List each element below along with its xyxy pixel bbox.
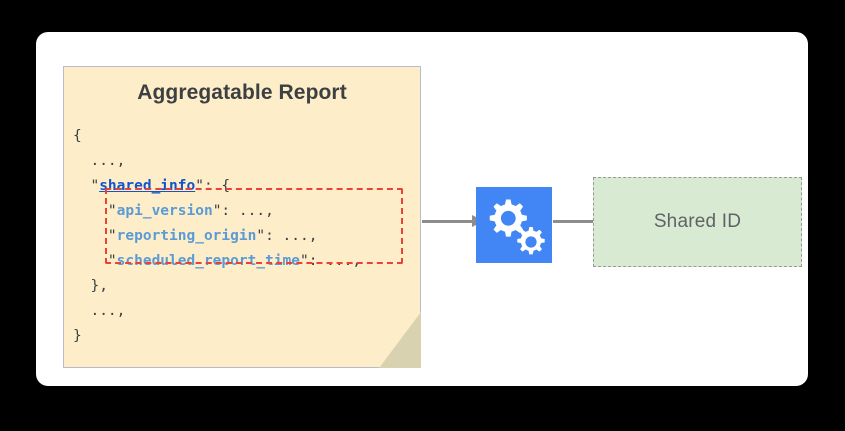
code-line: "reporting_origin": ..., xyxy=(73,224,361,249)
code-line: ..., xyxy=(73,299,361,324)
json-key: reporting_origin xyxy=(117,228,257,244)
code-token: } xyxy=(73,328,82,344)
json-key: api_version xyxy=(117,203,213,219)
code-token: ..., xyxy=(90,153,125,169)
code-line: }, xyxy=(73,274,361,299)
code-line: "scheduled_report_time": ..., xyxy=(73,249,361,274)
code-line: { xyxy=(73,124,361,149)
json-code-block: { ..., "shared_info": { "api_version": .… xyxy=(73,124,361,349)
code-indent xyxy=(73,153,90,169)
arrow-shaft xyxy=(553,220,593,223)
code-indent xyxy=(73,178,90,194)
code-token: " xyxy=(108,203,117,219)
code-token: ": ..., xyxy=(256,228,317,244)
code-token: " xyxy=(90,178,99,194)
diagram-canvas: Aggregatable Report { ..., "shared_info"… xyxy=(0,0,845,431)
code-indent xyxy=(73,253,108,269)
code-token: " xyxy=(108,253,117,269)
arrow-shaft xyxy=(422,220,472,223)
shared-id-box: Shared ID xyxy=(593,177,802,267)
json-key: scheduled_report_time xyxy=(117,253,300,269)
aggregatable-report-document: Aggregatable Report { ..., "shared_info"… xyxy=(63,66,421,368)
code-token: }, xyxy=(90,278,107,294)
code-line: "shared_info": { xyxy=(73,174,361,199)
arrow-report-to-processor xyxy=(422,215,484,227)
code-token: ": ..., xyxy=(300,253,361,269)
code-token: " xyxy=(108,228,117,244)
code-token: ": { xyxy=(195,178,230,194)
code-indent xyxy=(73,303,90,319)
json-key[interactable]: shared_info xyxy=(99,178,195,194)
code-token: { xyxy=(73,128,82,144)
code-line: } xyxy=(73,324,361,349)
code-token: ..., xyxy=(90,303,125,319)
document-title: Aggregatable Report xyxy=(63,81,421,105)
code-indent xyxy=(73,203,108,219)
code-line: "api_version": ..., xyxy=(73,199,361,224)
code-indent xyxy=(73,228,108,244)
code-line: ..., xyxy=(73,149,361,174)
diagram-card: Aggregatable Report { ..., "shared_info"… xyxy=(36,32,808,386)
code-token: ": ..., xyxy=(213,203,274,219)
shared-id-label: Shared ID xyxy=(654,211,741,233)
code-indent xyxy=(73,278,90,294)
gears-icon xyxy=(476,187,552,263)
